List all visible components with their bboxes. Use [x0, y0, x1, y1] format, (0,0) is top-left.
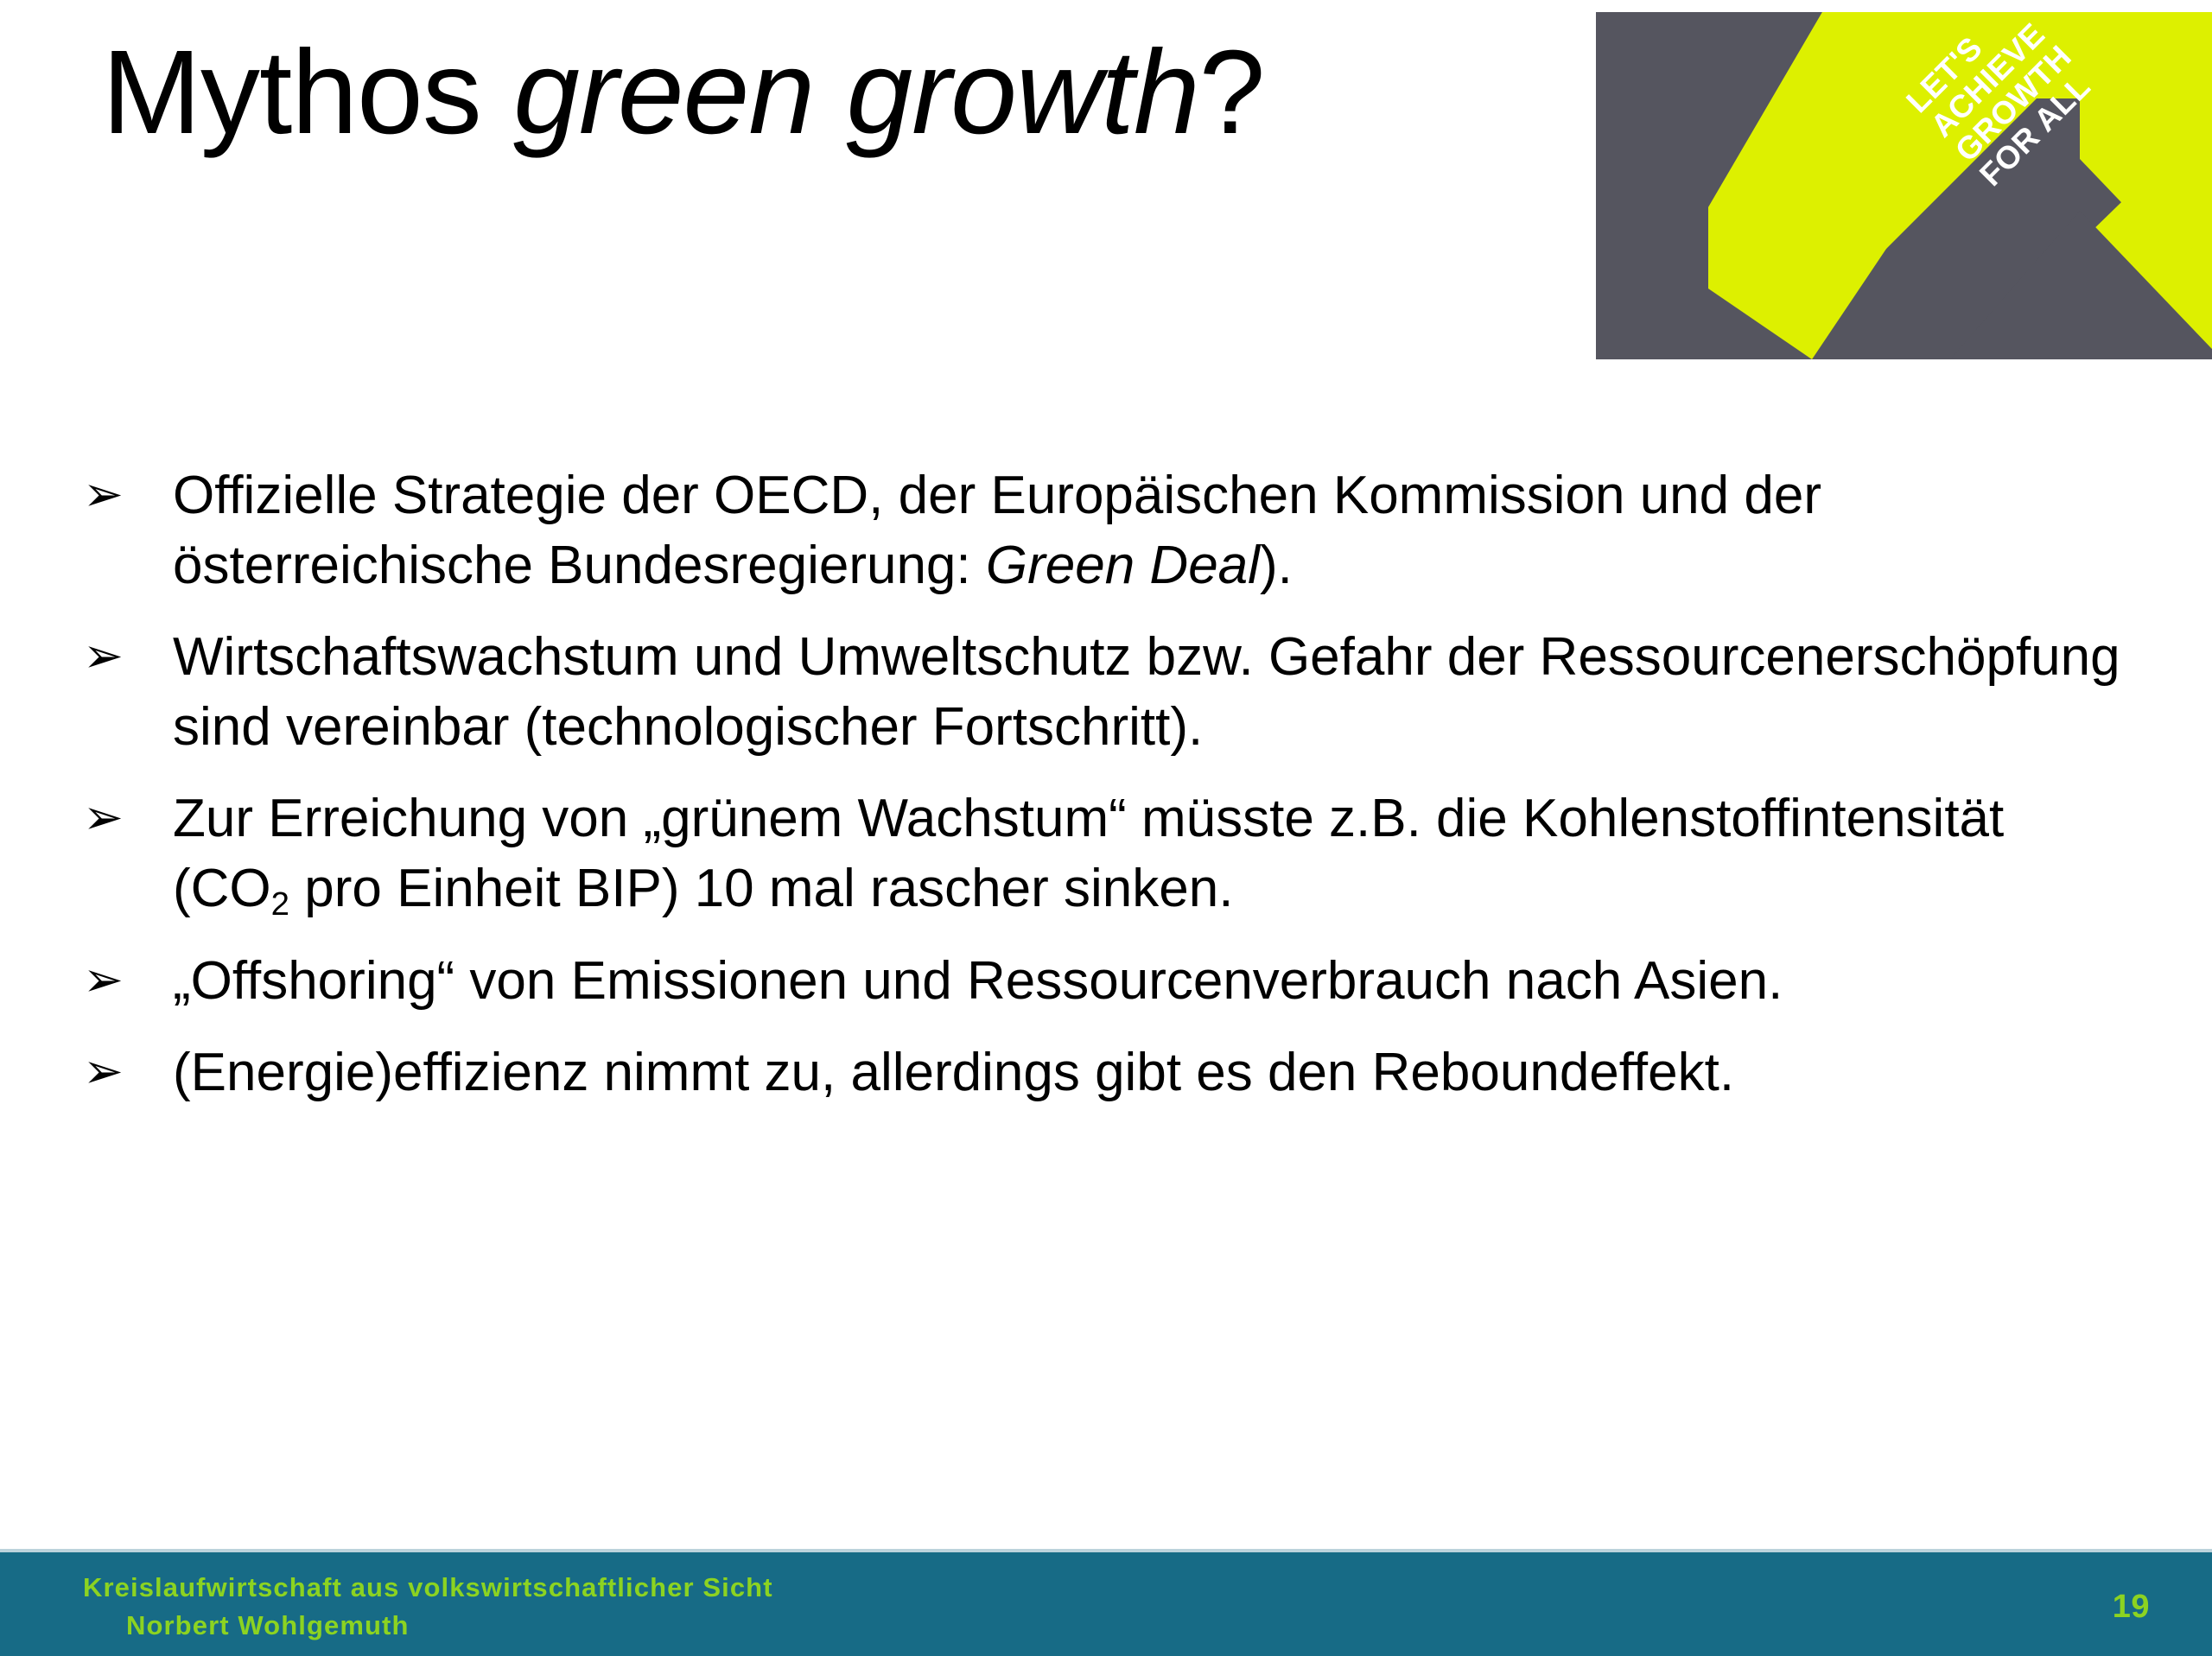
- logo-chevron-icon: [1596, 12, 2212, 359]
- page-number: 19: [2113, 1589, 2150, 1626]
- list-item-text-post: ).: [1260, 536, 1293, 595]
- arrow-bullet-icon: ➢: [83, 784, 173, 851]
- co2-subscript: 2: [271, 885, 289, 923]
- slide-footer: Kreislaufwirtschaft aus volkswirtschaftl…: [0, 1549, 2212, 1656]
- arrow-bullet-icon: ➢: [83, 1038, 173, 1105]
- arrow-bullet-icon: ➢: [83, 461, 173, 528]
- slide-canvas: Mythos green growth? LET'S ACHIEVE GROWT…: [0, 0, 2212, 1653]
- list-item-text: „Offshoring“ von Emissionen und Ressourc…: [173, 947, 2157, 1017]
- footer-caption: Kreislaufwirtschaft aus volkswirtschaftl…: [83, 1569, 773, 1645]
- list-item-text-emphasis: Green Deal: [986, 536, 1260, 595]
- title-suffix: ?: [1199, 26, 1265, 159]
- arrow-bullet-icon: ➢: [83, 947, 173, 1013]
- slide-title: Mythos green growth?: [102, 26, 1571, 160]
- list-item: ➢ (Energie)effizienz nimmt zu, allerding…: [83, 1038, 2157, 1108]
- list-item: ➢ „Offshoring“ von Emissionen und Ressou…: [83, 947, 2157, 1017]
- title-prefix: Mythos: [102, 26, 513, 159]
- list-item-text: Zur Erreichung von „grünem Wachstum“ müs…: [173, 784, 2157, 923]
- footer-line-2: Norbert Wohlgemuth: [83, 1607, 773, 1645]
- list-item: ➢ Zur Erreichung von „grünem Wachstum“ m…: [83, 784, 2157, 923]
- brand-logo: LET'S ACHIEVE GROWTH FOR ALL: [1596, 12, 2212, 359]
- bullet-list: ➢ Offizielle Strategie der OECD, der Eur…: [83, 461, 2157, 1131]
- arrow-bullet-icon: ➢: [83, 623, 173, 689]
- list-item-text: Wirtschaftswachstum und Umweltschutz bzw…: [173, 623, 2157, 762]
- list-item-text: (Energie)effizienz nimmt zu, allerdings …: [173, 1038, 2157, 1108]
- title-emphasis: green growth: [513, 26, 1199, 159]
- list-item: ➢ Offizielle Strategie der OECD, der Eur…: [83, 461, 2157, 600]
- footer-line-1: Kreislaufwirtschaft aus volkswirtschaftl…: [83, 1572, 773, 1602]
- list-item: ➢ Wirtschaftswachstum und Umweltschutz b…: [83, 623, 2157, 762]
- list-item-text-post: pro Einheit BIP) 10 mal rascher sinken.: [289, 859, 1233, 918]
- list-item-text: Offizielle Strategie der OECD, der Europ…: [173, 461, 2157, 600]
